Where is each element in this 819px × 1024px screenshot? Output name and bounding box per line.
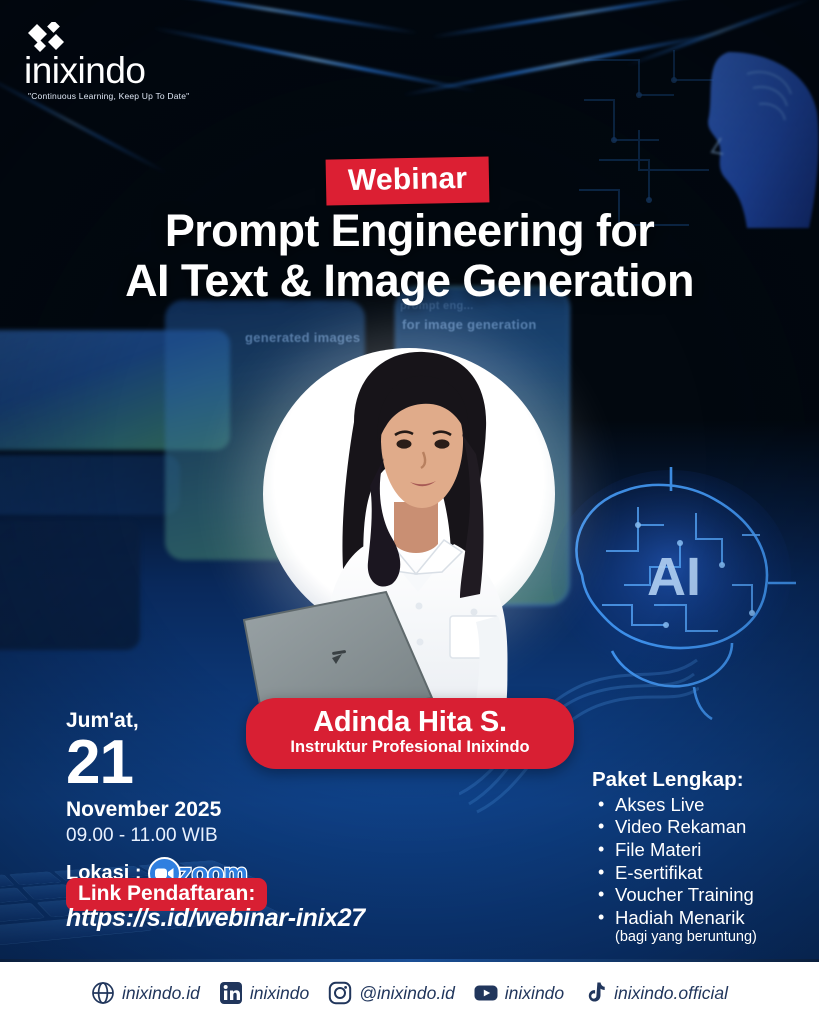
linkedin-icon: [219, 981, 243, 1005]
title-line-1: Prompt Engineering for: [165, 205, 654, 256]
list-item: Video Rekaman: [592, 817, 817, 838]
brand-logo-text: inixindo: [24, 52, 224, 89]
brand-tagline: "Continuous Learning, Keep Up To Date": [28, 91, 224, 101]
title-line-2: AI Text & Image Generation: [22, 256, 797, 306]
webinar-badge-label: Webinar: [348, 164, 468, 196]
social-handle: inixindo.official: [614, 983, 728, 1004]
social-handle: inixindo.id: [122, 983, 200, 1004]
brain-ai-label: AI: [647, 547, 701, 607]
background-screen-panel: [0, 455, 180, 515]
youtube-icon: [474, 981, 498, 1005]
speaker-name: Adinda Hita S.: [256, 707, 564, 737]
speaker-role: Instruktur Profesional Inixindo: [256, 738, 564, 758]
page-title: Prompt Engineering for AI Text & Image G…: [0, 206, 819, 307]
globe-icon: [91, 981, 115, 1005]
social-website[interactable]: inixindo.id: [91, 981, 200, 1005]
package-title: Paket Lengkap:: [592, 768, 817, 793]
social-handle: inixindo: [250, 983, 309, 1004]
package-list: Akses Live Video Rekaman File Materi E-s…: [592, 795, 817, 929]
package-note: (bagi yang beruntung): [592, 930, 817, 946]
list-item: Voucher Training: [592, 885, 817, 906]
event-time: 09.00 - 11.00 WIB: [66, 825, 296, 848]
register-url[interactable]: https://s.id/webinar-inix27: [66, 904, 365, 933]
webinar-badge: Webinar: [326, 156, 490, 205]
tiktok-icon: [583, 981, 607, 1005]
list-item: E-sertifikat: [592, 863, 817, 884]
social-youtube[interactable]: inixindo: [474, 981, 564, 1005]
ai-face-icon: [669, 50, 819, 230]
social-footer: inixindo.id inixindo @inixindo.id: [0, 962, 819, 1024]
register-link-label: Link Pendaftaran:: [78, 882, 255, 905]
event-date-block: Jum'at, 21 November 2025 09.00 - 11.00 W…: [66, 710, 296, 890]
social-handle: @inixindo.id: [359, 983, 455, 1004]
social-instagram[interactable]: @inixindo.id: [328, 981, 455, 1005]
list-item: File Materi: [592, 840, 817, 861]
background-screen-panel: [0, 520, 140, 650]
webinar-poster: prompt eng... generated images for image…: [0, 0, 819, 1024]
list-item: Akses Live: [592, 795, 817, 816]
package-block: Paket Lengkap: Akses Live Video Rekaman …: [592, 768, 817, 946]
speaker-portrait: [236, 330, 586, 730]
social-handle: inixindo: [505, 983, 564, 1004]
list-item: Hadiah Menarik: [592, 908, 817, 929]
social-linkedin[interactable]: inixindo: [219, 981, 309, 1005]
social-tiktok[interactable]: inixindo.official: [583, 981, 728, 1005]
event-month-year: November 2025: [66, 798, 296, 821]
instagram-icon: [328, 981, 352, 1005]
event-date-number: 21: [66, 734, 296, 793]
brand-logo: inixindo "Continuous Learning, Keep Up T…: [24, 22, 224, 101]
